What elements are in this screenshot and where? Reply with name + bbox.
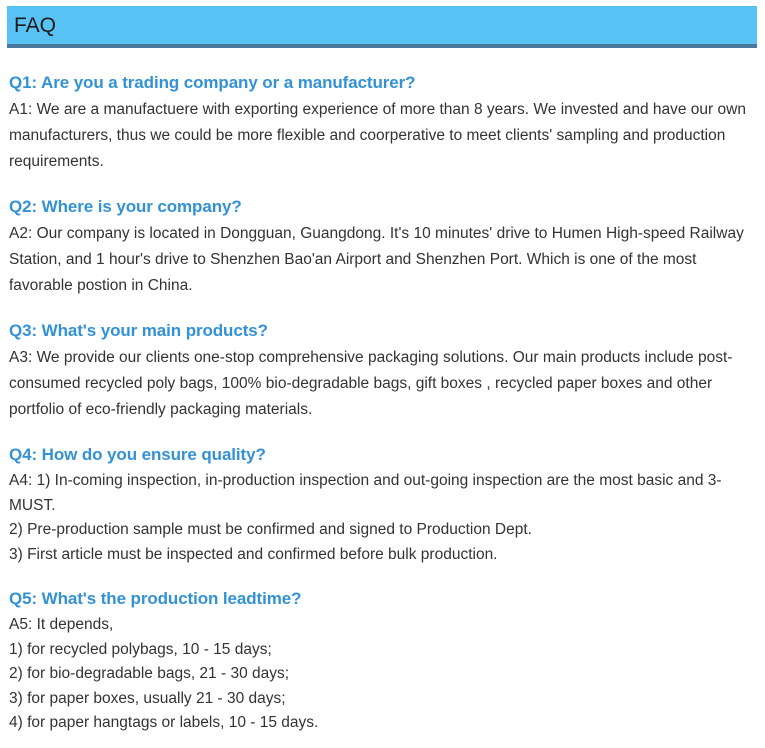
faq-item-q5: Q5: What's the production leadtime? A5: … [9, 588, 753, 736]
answer-line: 3) for paper boxes, usually 21 - 30 days… [9, 687, 753, 712]
answer-line: 2) Pre-production sample must be confirm… [9, 518, 753, 543]
answer-line: 4) for paper hangtags or labels, 10 - 15… [9, 711, 753, 736]
faq-item-q1: Q1: Are you a trading company or a manuf… [9, 72, 753, 175]
page-title: FAQ [14, 12, 56, 40]
answer-line: 3) First article must be inspected and c… [9, 543, 753, 568]
faq-question-q2: Q2: Where is your company? [9, 196, 753, 218]
answer-line: 2) for bio-degradable bags, 21 - 30 days… [9, 662, 753, 687]
faq-list: Q1: Are you a trading company or a manuf… [9, 72, 753, 736]
answer-line: 1) for recycled polybags, 10 - 15 days; [9, 638, 753, 663]
faq-answer-q3: A3: We provide our clients one-stop comp… [9, 345, 753, 423]
faq-header-banner: FAQ [7, 6, 757, 48]
faq-answer-q1: A1: We are a manufactuere with exporting… [9, 97, 753, 175]
faq-item-q4: Q4: How do you ensure quality? A4: 1) In… [9, 444, 753, 567]
faq-page: FAQ Q1: Are you a trading company or a m… [0, 0, 765, 748]
faq-question-q4: Q4: How do you ensure quality? [9, 444, 753, 466]
faq-item-q2: Q2: Where is your company? A2: Our compa… [9, 196, 753, 299]
faq-answer-q2: A2: Our company is located in Dongguan, … [9, 221, 753, 299]
faq-answer-q5: A5: It depends,1) for recycled polybags,… [9, 613, 753, 736]
faq-item-q3: Q3: What's your main products? A3: We pr… [9, 320, 753, 423]
faq-question-q1: Q1: Are you a trading company or a manuf… [9, 72, 753, 94]
faq-question-q3: Q3: What's your main products? [9, 320, 753, 342]
answer-line: A4: 1) In-coming inspection, in-producti… [9, 469, 753, 518]
faq-question-q5: Q5: What's the production leadtime? [9, 588, 753, 610]
faq-answer-q4: A4: 1) In-coming inspection, in-producti… [9, 469, 753, 567]
answer-line: A5: It depends, [9, 613, 753, 638]
